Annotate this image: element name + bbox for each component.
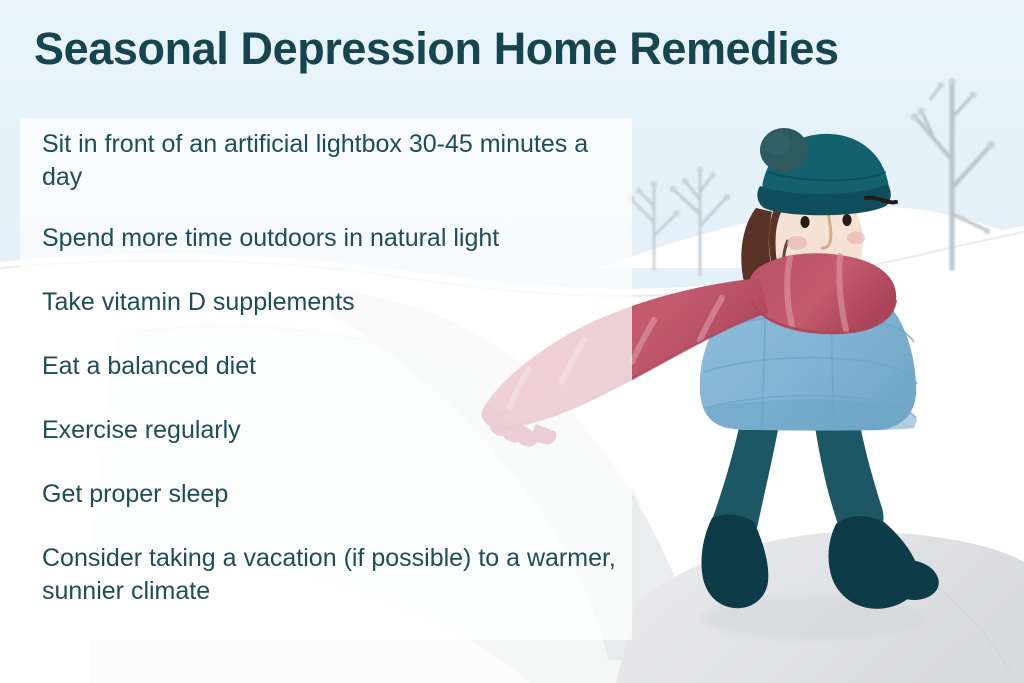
- cheek-left: [787, 236, 807, 250]
- remedy-item: Spend more time outdoors in natural ligh…: [42, 222, 622, 255]
- infographic-root: Seasonal Depression Home Remedies Sit in…: [0, 0, 1024, 683]
- remedy-item: Get proper sleep: [42, 478, 622, 511]
- eye-left: [800, 216, 809, 228]
- remedy-item: Take vitamin D supplements: [42, 286, 622, 319]
- title-bar: Seasonal Depression Home Remedies: [0, 0, 1024, 96]
- remedy-item: Sit in front of an artificial lightbox 3…: [42, 128, 622, 194]
- remedy-list: Sit in front of an artificial lightbox 3…: [42, 128, 622, 636]
- cheek-right: [847, 232, 865, 245]
- remedy-item: Eat a balanced diet: [42, 350, 622, 383]
- eye-right: [842, 214, 851, 226]
- remedy-item: Consider taking a vacation (if possible)…: [42, 542, 622, 608]
- hat-pompom-highlight: [765, 133, 791, 155]
- remedy-item: Exercise regularly: [42, 414, 622, 447]
- page-title: Seasonal Depression Home Remedies: [0, 26, 839, 71]
